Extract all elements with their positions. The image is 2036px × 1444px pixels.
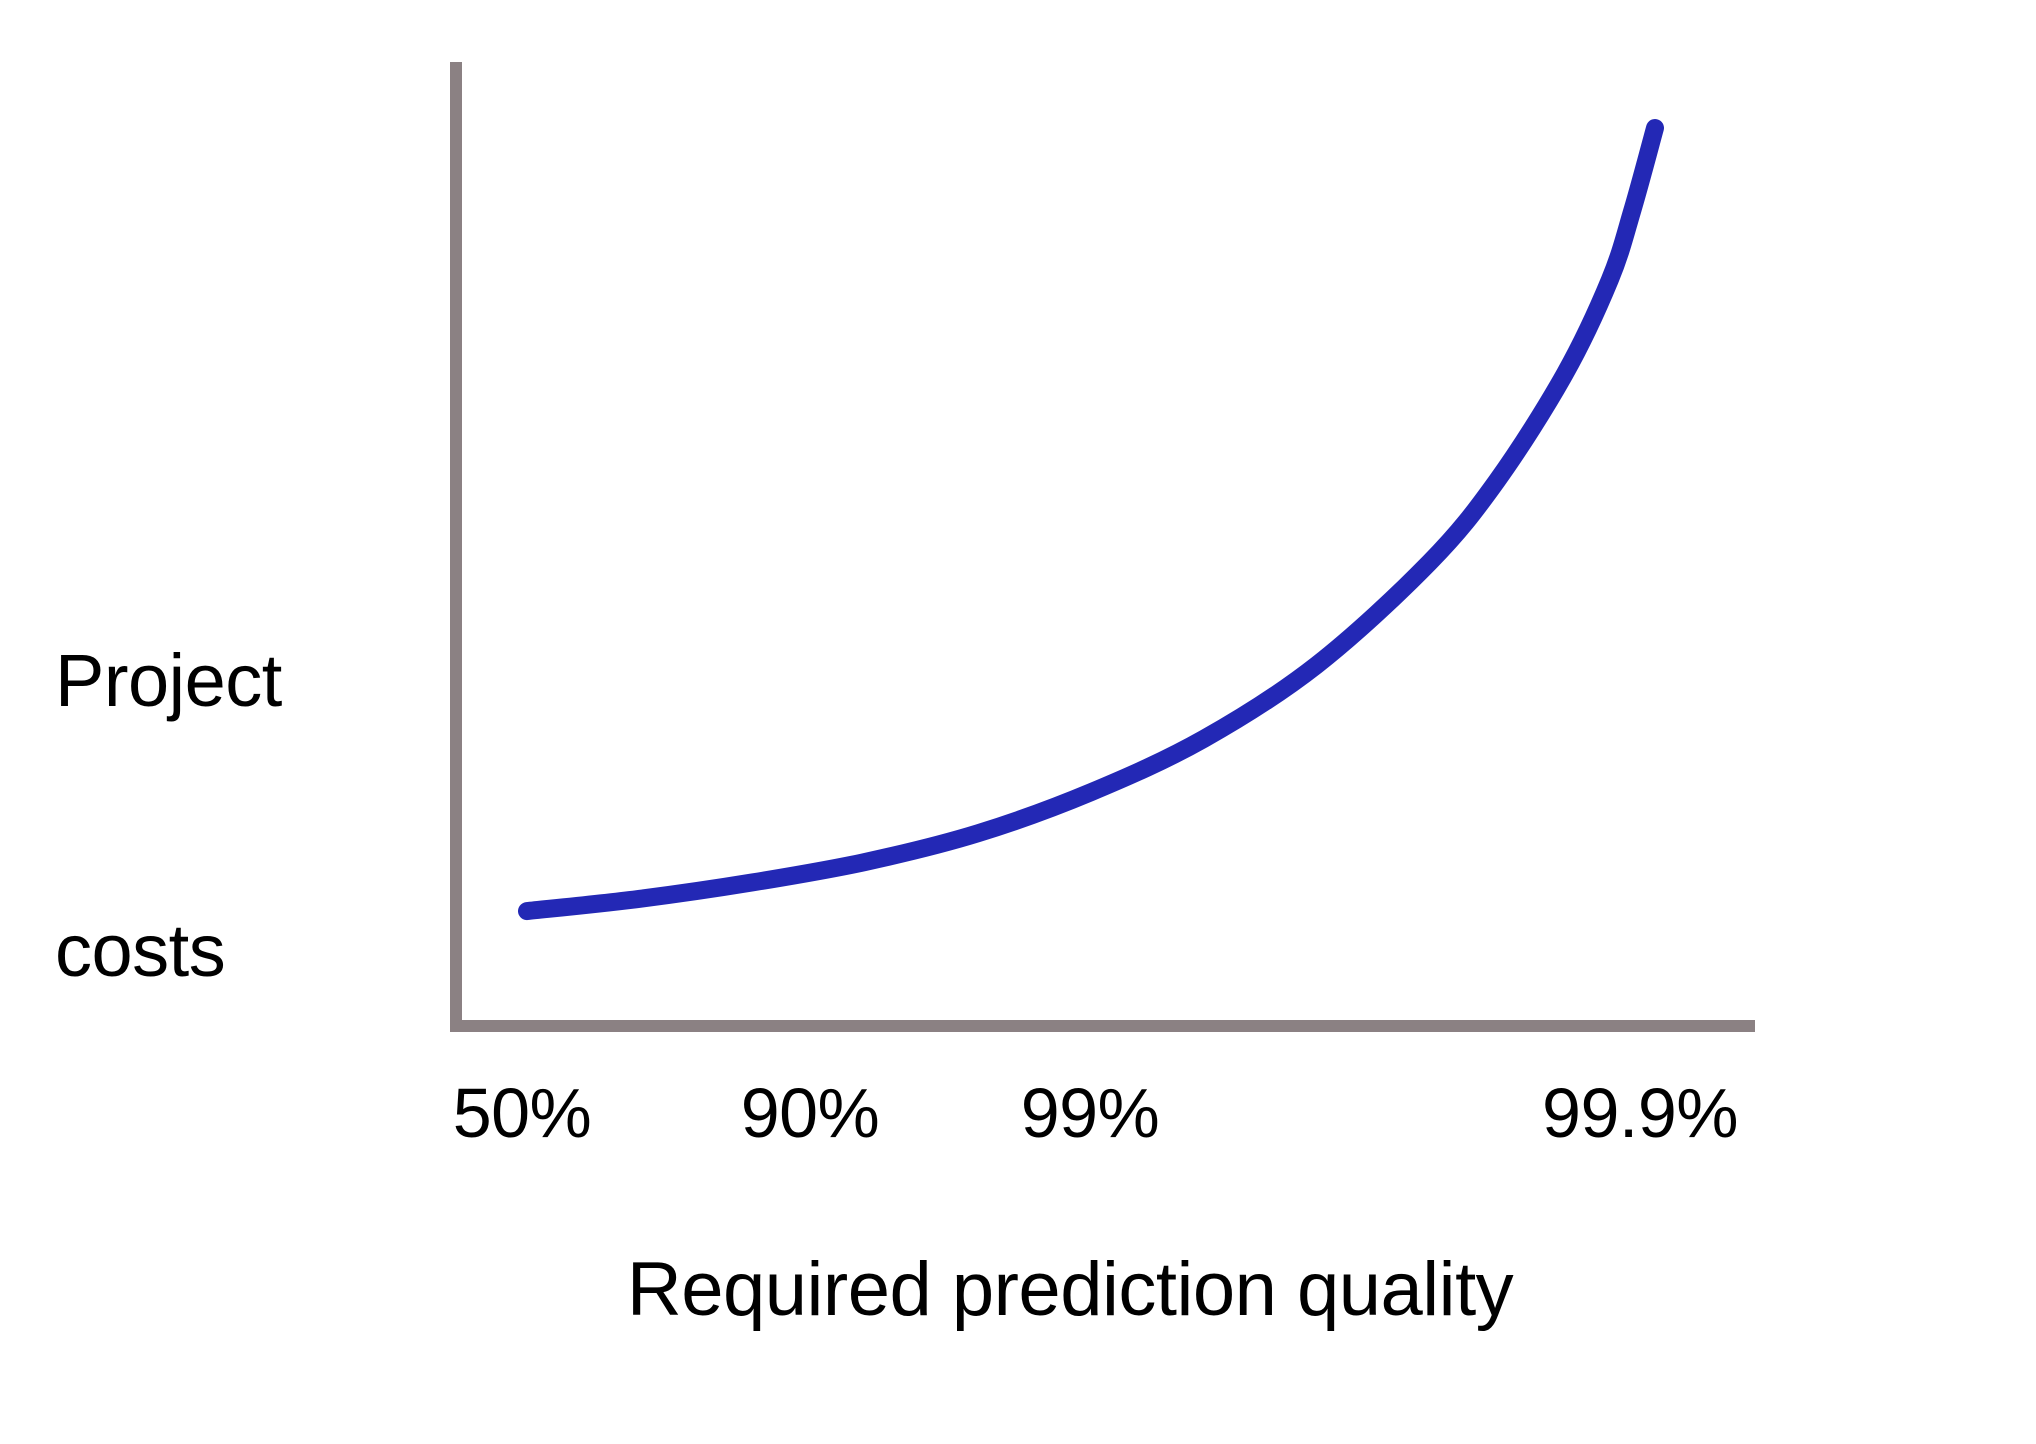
y-axis-label: Project costs xyxy=(55,455,385,1177)
x-axis-title: Required prediction quality xyxy=(370,1248,1770,1332)
cost-curve-line xyxy=(527,128,1655,911)
y-axis-spine xyxy=(450,62,462,1032)
x-tick-label-99-9: 99.9% xyxy=(1542,1078,1738,1148)
x-tick-label-99: 99% xyxy=(1021,1078,1160,1148)
y-axis-label-line-1: Project xyxy=(55,636,385,726)
x-tick-label-90: 90% xyxy=(741,1078,880,1148)
chart-figure: Project costs 50% 90% 99% 99.9% Required… xyxy=(0,0,2036,1444)
y-axis-label-line-2: costs xyxy=(55,906,385,996)
x-tick-label-50: 50% xyxy=(453,1078,592,1148)
x-axis-spine xyxy=(450,1020,1755,1032)
